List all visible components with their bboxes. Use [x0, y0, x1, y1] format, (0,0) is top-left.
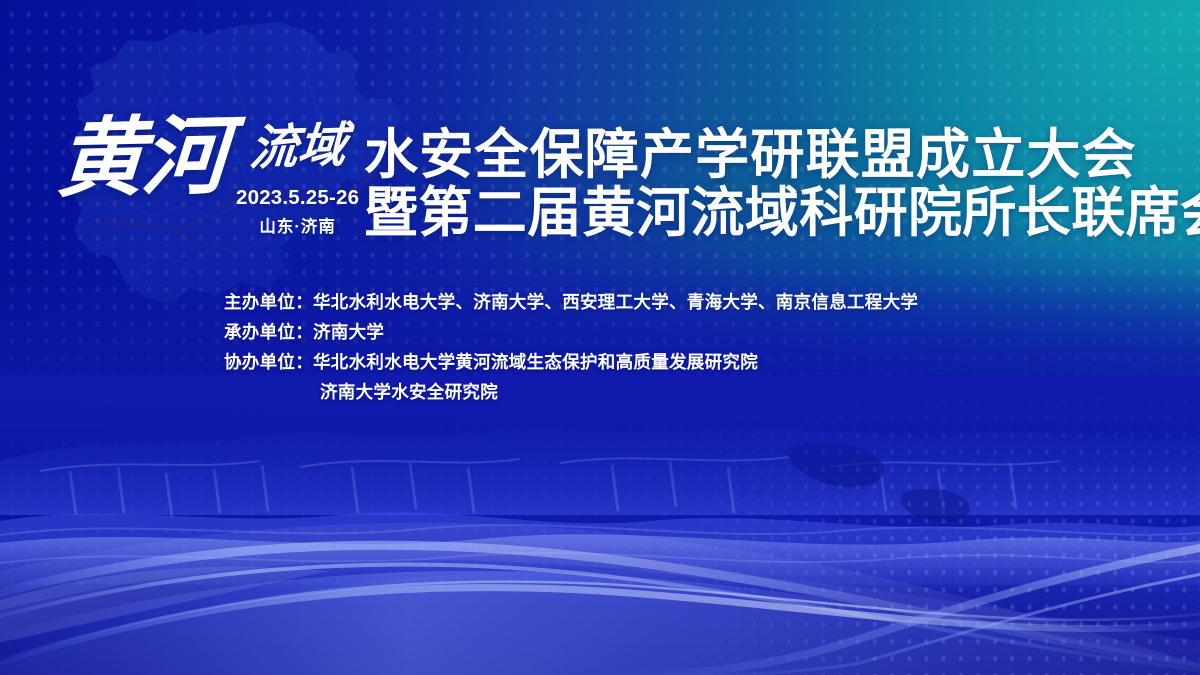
organizer-line: 承办单位：济南大学 — [224, 317, 918, 347]
calligraphy-lockup: 黄河 流域 2023.5.25-26 山东·济南 — [58, 118, 359, 237]
conference-banner: 黄河 流域 2023.5.25-26 山东·济南 水安全保障产学研联盟成立大会 … — [0, 0, 1200, 675]
organizer-value: 济南大学水安全研究院 — [320, 382, 498, 402]
organizer-line: 济南大学水安全研究院 — [224, 377, 918, 407]
calligraphy-huanghe: 黄河 — [55, 116, 229, 201]
event-title-line-2: 暨第二届黄河流域科研院所长联席会议 — [364, 184, 1200, 242]
event-location: 山东·济南 — [259, 213, 336, 237]
organizer-value: 济南大学 — [313, 322, 384, 342]
event-title: 水安全保障产学研联盟成立大会 暨第二届黄河流域科研院所长联席会议 — [364, 126, 1200, 243]
organizer-value: 华北水利水电大学、济南大学、西安理工大学、青海大学、南京信息工程大学 — [313, 292, 918, 312]
organizer-line: 协办单位：华北水利水电大学黄河流域生态保护和高质量发展研究院 — [224, 347, 918, 377]
organizer-label: 协办单位： — [224, 352, 313, 372]
calligraphy-liuyu: 流域 — [247, 122, 348, 173]
event-title-line-1: 水安全保障产学研联盟成立大会 — [364, 126, 1200, 184]
organizer-list: 主办单位：华北水利水电大学、济南大学、西安理工大学、青海大学、南京信息工程大学 … — [224, 287, 918, 407]
organizer-label: 主办单位： — [224, 292, 313, 312]
organizer-label: 承办单位： — [224, 322, 313, 342]
event-date: 2023.5.25-26 — [236, 186, 359, 210]
organizer-line: 主办单位：华北水利水电大学、济南大学、西安理工大学、青海大学、南京信息工程大学 — [224, 287, 918, 317]
organizer-value: 华北水利水电大学黄河流域生态保护和高质量发展研究院 — [313, 352, 758, 372]
